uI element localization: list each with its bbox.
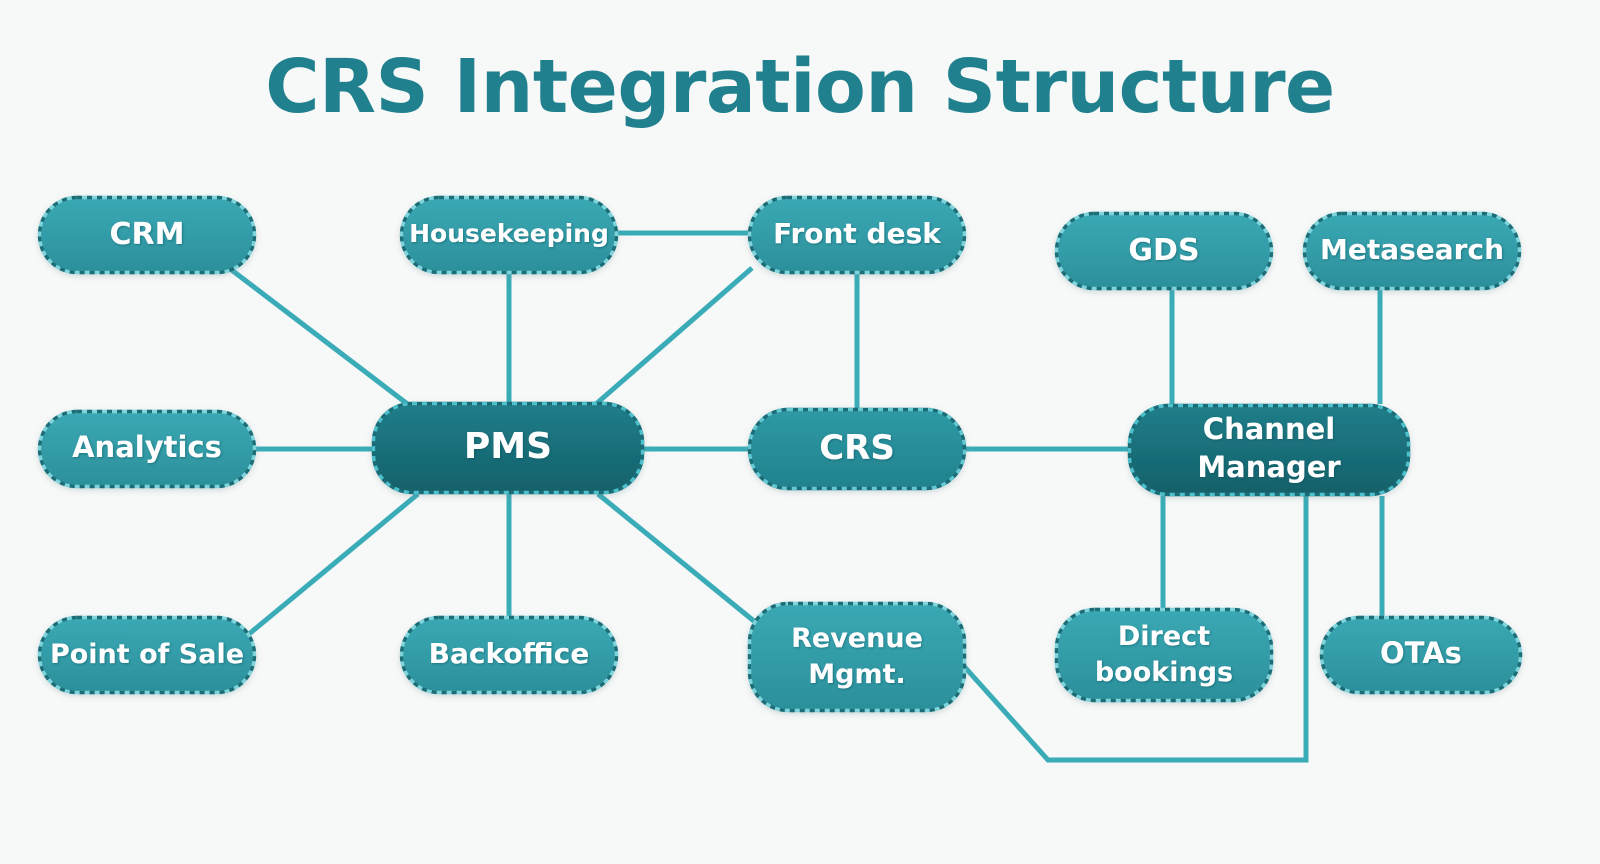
- node-housekeeping[interactable]: Housekeeping: [400, 196, 618, 274]
- node-metasearch[interactable]: Metasearch: [1303, 212, 1521, 290]
- node-pms[interactable]: PMS: [372, 402, 644, 494]
- node-crm[interactable]: CRM: [38, 196, 256, 274]
- node-label-backoffice: Backoffice: [429, 637, 590, 670]
- node-body: [748, 602, 966, 712]
- diagram-canvas: CRS Integration Structure CRMHousekeepin…: [0, 0, 1600, 864]
- node-pointofsale[interactable]: Point of Sale: [38, 616, 256, 694]
- node-label-analytics: Analytics: [72, 430, 222, 464]
- node-label-gds: GDS: [1128, 233, 1199, 268]
- node-frontdesk[interactable]: Front desk: [748, 196, 966, 274]
- node-label-crs: CRS: [819, 428, 895, 468]
- node-analytics[interactable]: Analytics: [38, 410, 256, 488]
- node-label-crm: CRM: [110, 217, 185, 252]
- node-revenuemgmt[interactable]: RevenueMgmt.: [748, 602, 966, 712]
- node-channelmgr[interactable]: ChannelManager: [1128, 404, 1410, 496]
- node-label-housekeeping: Housekeeping: [409, 219, 609, 248]
- node-crs[interactable]: CRS: [748, 408, 966, 490]
- page-title: CRS Integration Structure: [265, 44, 1335, 130]
- node-label-pointofsale: Point of Sale: [50, 639, 244, 670]
- node-label-otas: OTAs: [1380, 636, 1462, 670]
- node-directbook[interactable]: Directbookings: [1055, 608, 1273, 702]
- node-label-frontdesk: Front desk: [773, 217, 942, 250]
- node-label-pms: PMS: [464, 426, 552, 467]
- node-backoffice[interactable]: Backoffice: [400, 616, 618, 694]
- node-otas[interactable]: OTAs: [1320, 616, 1522, 694]
- node-label-metasearch: Metasearch: [1320, 233, 1504, 266]
- node-gds[interactable]: GDS: [1055, 212, 1273, 290]
